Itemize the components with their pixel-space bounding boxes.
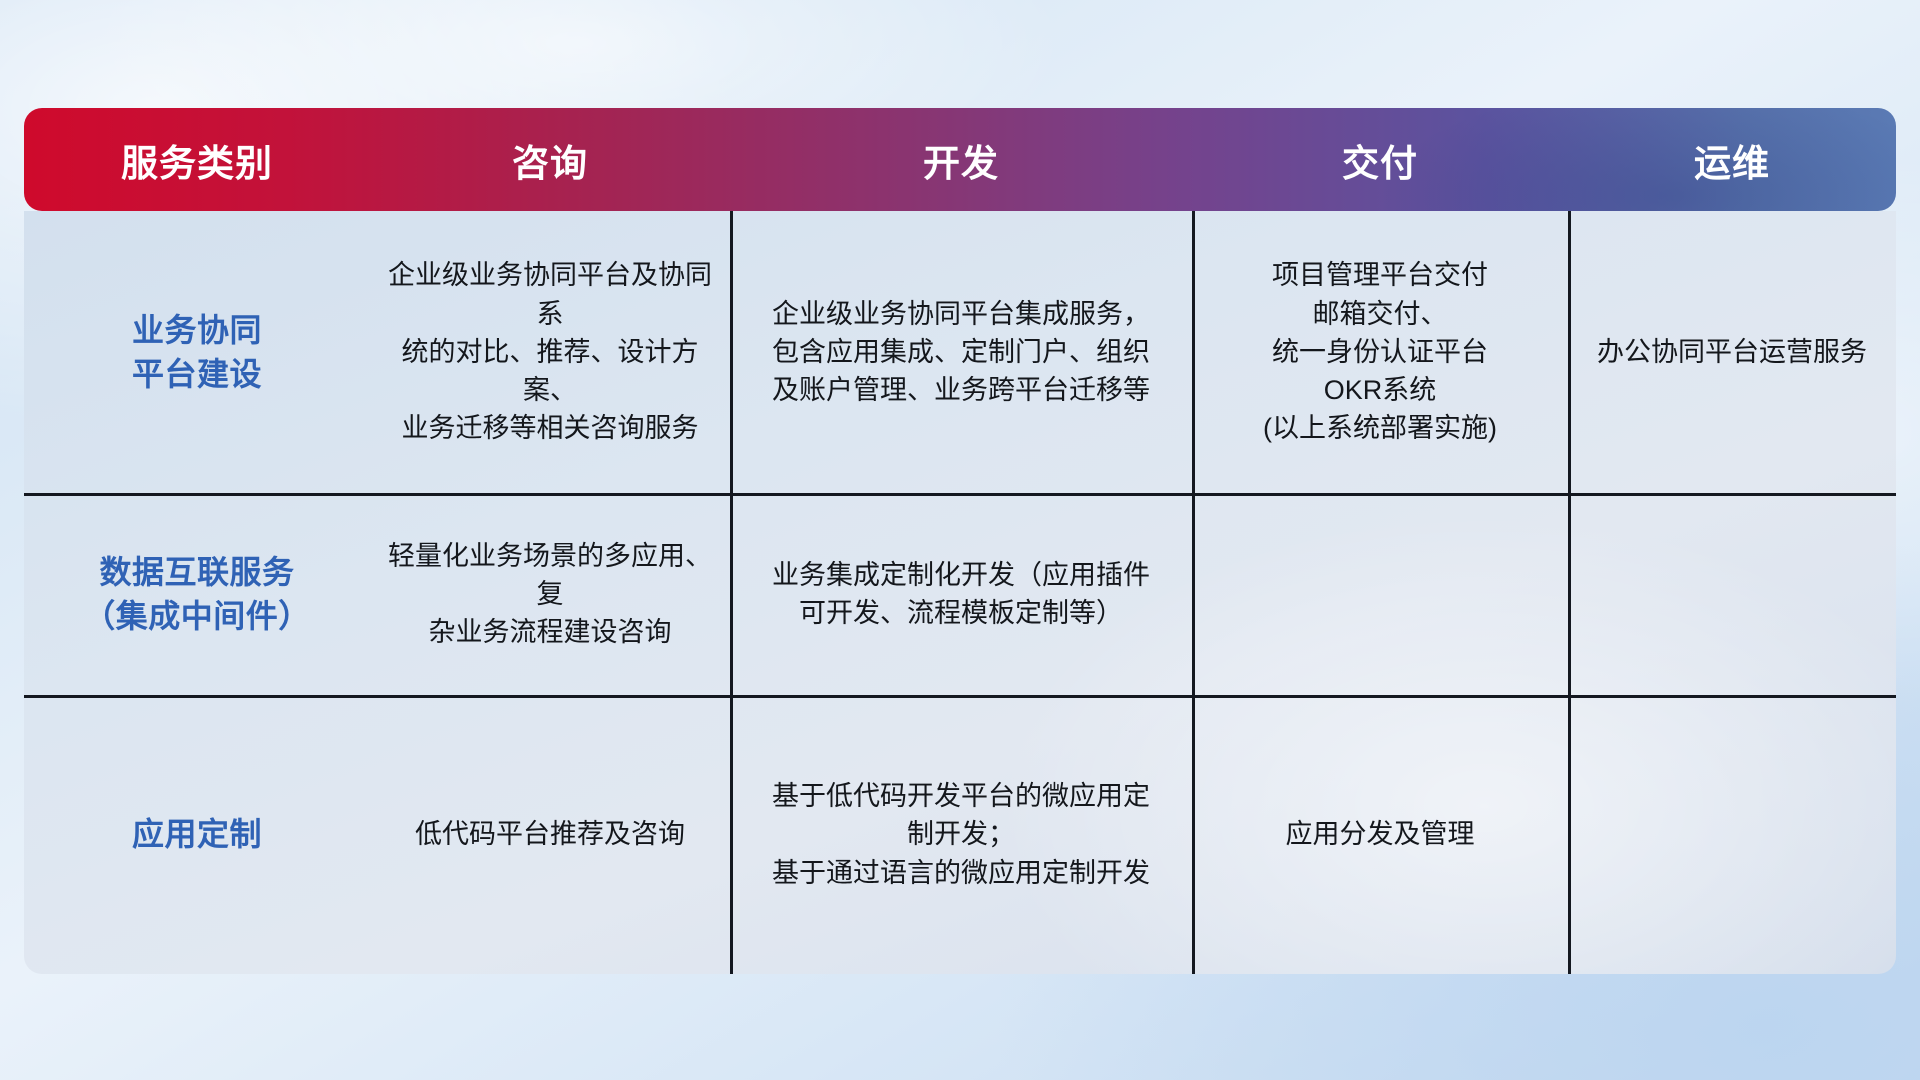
cell-development: 企业级业务协同平台集成服务， 包含应用集成、定制门户、组织 及账户管理、业务跨平… xyxy=(730,211,1192,493)
table-header-row: 服务类别 咨询 开发 交付 运维 xyxy=(24,108,1896,211)
row-divider-1 xyxy=(24,493,1896,496)
table-row: 数据互联服务 （集成中间件） 轻量化业务场景的多应用、复 杂业务流程建设咨询 业… xyxy=(24,493,1896,695)
row-divider-2 xyxy=(24,695,1896,698)
cell-consulting: 企业级业务协同平台及协同系 统的对比、推荐、设计方案、 业务迁移等相关咨询服务 xyxy=(370,211,730,493)
row-category-label: 应用定制 xyxy=(24,695,370,974)
column-divider-development-delivery xyxy=(1192,211,1195,974)
cell-delivery xyxy=(1192,493,1568,695)
row-category-label: 数据互联服务 （集成中间件） xyxy=(24,493,370,695)
table-row: 业务协同 平台建设 企业级业务协同平台及协同系 统的对比、推荐、设计方案、 业务… xyxy=(24,211,1896,493)
row-category-label: 业务协同 平台建设 xyxy=(24,211,370,493)
header-operations: 运维 xyxy=(1568,133,1896,187)
cell-delivery: 应用分发及管理 xyxy=(1192,695,1568,974)
cell-operations xyxy=(1568,493,1896,695)
cell-delivery: 项目管理平台交付 邮箱交付、 统一身份认证平台 OKR系统 (以上系统部署实施) xyxy=(1192,211,1568,493)
cell-operations xyxy=(1568,695,1896,974)
cell-development: 业务集成定制化开发（应用插件 可开发、流程模板定制等） xyxy=(730,493,1192,695)
cell-consulting: 低代码平台推荐及咨询 xyxy=(370,695,730,974)
cell-operations: 办公协同平台运营服务 xyxy=(1568,211,1896,493)
table-row: 应用定制 低代码平台推荐及咨询 基于低代码开发平台的微应用定 制开发； 基于通过… xyxy=(24,695,1896,974)
table-body: 业务协同 平台建设 企业级业务协同平台及协同系 统的对比、推荐、设计方案、 业务… xyxy=(24,211,1896,974)
header-service-category: 服务类别 xyxy=(24,133,370,187)
header-delivery: 交付 xyxy=(1192,133,1568,187)
cell-consulting: 轻量化业务场景的多应用、复 杂业务流程建设咨询 xyxy=(370,493,730,695)
header-development: 开发 xyxy=(730,133,1192,187)
column-divider-delivery-operations xyxy=(1568,211,1571,974)
service-matrix-table: 服务类别 咨询 开发 交付 运维 业务协同 平台建设 企业级业务协同平台及协同系… xyxy=(24,108,1896,974)
header-consulting: 咨询 xyxy=(370,133,730,187)
cell-development: 基于低代码开发平台的微应用定 制开发； 基于通过语言的微应用定制开发 xyxy=(730,695,1192,974)
column-divider-consulting-development xyxy=(730,211,733,974)
